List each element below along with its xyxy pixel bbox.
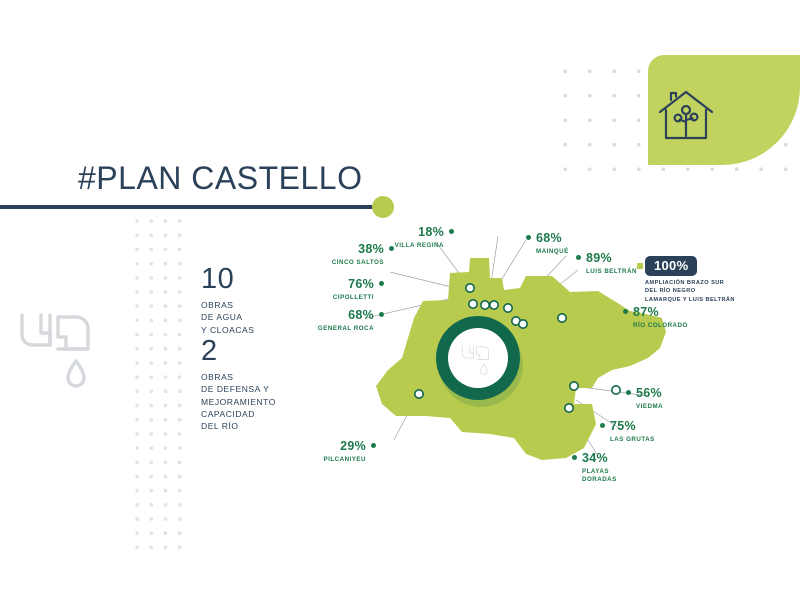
callout-bullet [371,443,376,448]
title-underline [0,205,380,209]
map-callout-cinco-saltos[interactable]: 38% CINCO SALTOS [306,243,384,267]
stat-number: 10 [201,265,254,294]
map-node [570,382,578,390]
slide-canvas: #PLAN CASTELLO 10 OBRAS DE AGUA Y CLOACA… [0,0,800,600]
callout-percent: 75% [610,420,690,433]
callout-city: RÍO COLORADO [633,322,713,330]
stat-caption: OBRAS DE AGUA Y CLOACAS [201,299,254,336]
callout-bullet [389,246,394,251]
map-callout-general-roca[interactable]: 68% GENERAL ROCA [292,309,374,333]
map-callout-las-grutas[interactable]: 75% LAS GRUTAS [610,420,690,444]
callout-city: PILCANIYEU [288,456,366,464]
map-node [469,300,477,308]
callout-percent: 18% [368,226,444,239]
dot-grid-left-icon [128,212,186,560]
stat-block: 10 OBRAS DE AGUA Y CLOACAS [201,265,254,336]
callout-square-bullet [637,263,643,269]
map-node [519,320,527,328]
map-callout-rio-colorado[interactable]: 87% RÍO COLORADO [633,306,713,330]
callout-bullet [623,309,628,314]
callout-bullet [572,455,577,460]
map-callout-playas-doradas[interactable]: 34% PLAYAS DORADAS [582,452,662,484]
callout-bullet [626,390,631,395]
map-node [565,404,573,412]
map-callout-cipolletti[interactable]: 76% CIPOLLETTI [296,278,374,302]
callout-percent: 56% [636,387,716,400]
stat-number: 2 [201,337,276,366]
callout-bullet [379,281,384,286]
callout-percent: 76% [296,278,374,291]
map-node [481,301,489,309]
title-accent-dot [372,196,394,218]
page-title: #PLAN CASTELLO [78,160,362,197]
callout-percent: 87% [633,306,713,319]
map-node [490,301,498,309]
faucet-waterdrop-icon [14,305,114,401]
map-node [415,390,423,398]
stat-block: 2 OBRAS DE DEFENSA Y MEJORAMIENTO CAPACI… [201,337,276,433]
callout-bullet [379,312,384,317]
callout-city: LAS GRUTAS [610,436,690,444]
callout-percent: 29% [288,440,366,453]
map-node [466,284,474,292]
callout-city: GENERAL ROCA [292,325,374,333]
map-node [504,304,512,312]
callout-bullet [449,229,454,234]
callout-city: CINCO SALTOS [306,259,384,267]
callout-city: PLAYAS DORADAS [582,468,662,485]
stat-caption: OBRAS DE DEFENSA Y MEJORAMIENTO CAPACIDA… [201,371,276,433]
callout-bullet [576,255,581,260]
badge-percent: 100% [645,256,697,276]
callout-bullet [600,423,605,428]
map-callout-viedma[interactable]: 56% VIEDMA [636,387,716,411]
callout-city: VIEDMA [636,403,716,411]
map-node [612,386,620,394]
map-callout-badge-100[interactable]: 100% AMPLIACIÓN BRAZO SUR DEL RÍO NEGRO … [645,256,735,304]
map-callout-pilcaniyeu[interactable]: 29% PILCANIYEU [288,440,366,464]
callout-percent: 34% [582,452,662,465]
callout-city: CIPOLLETTI [296,294,374,302]
callout-percent: 68% [536,232,616,245]
callout-bullet [526,235,531,240]
map-node [558,314,566,322]
map-center-disc [448,328,508,388]
callout-percent: 68% [292,309,374,322]
badge-caption: AMPLIACIÓN BRAZO SUR DEL RÍO NEGRO LAMAR… [645,279,735,304]
callout-percent: 38% [306,243,384,256]
house-water-tree-icon [656,88,716,144]
